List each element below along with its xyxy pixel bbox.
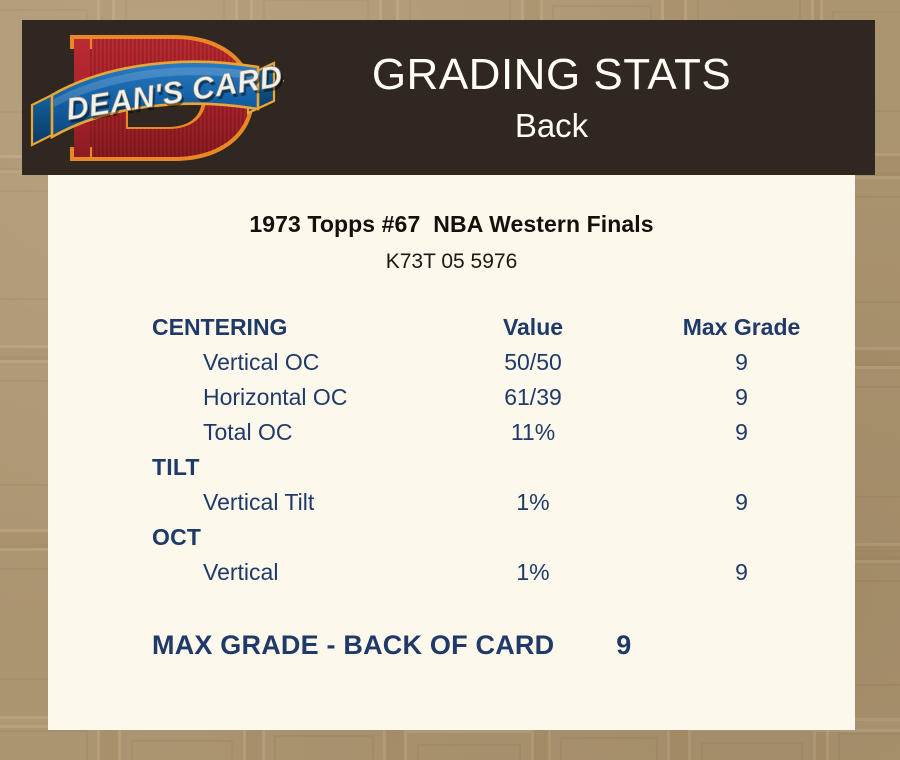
column-header-value: Value bbox=[438, 310, 628, 345]
row-label: Vertical Tilt bbox=[48, 485, 438, 520]
section-title: TILT bbox=[48, 450, 438, 485]
column-header-centering: CENTERING bbox=[48, 310, 438, 345]
row-label: Horizontal OC bbox=[48, 380, 438, 415]
grading-stats-panel: 1973 Topps #67 NBA Western Finals K73T 0… bbox=[48, 175, 855, 730]
row-value: 1% bbox=[438, 555, 628, 590]
row-label: Vertical bbox=[48, 555, 438, 590]
row-max-grade: 9 bbox=[628, 485, 855, 520]
row-value: 1% bbox=[438, 485, 628, 520]
deans-cards-logo[interactable]: DEAN'S CARDS DEAN'S CARDS bbox=[22, 23, 284, 173]
card-description: 1973 Topps #67 NBA Western Finals bbox=[48, 211, 855, 238]
table-header-row: CENTERING Value Max Grade bbox=[48, 310, 855, 345]
row-max-grade: 9 bbox=[628, 345, 855, 380]
row-value: 61/39 bbox=[438, 380, 628, 415]
row-max-grade: 9 bbox=[628, 380, 855, 415]
section-title: OCT bbox=[48, 520, 438, 555]
max-grade-value: 9 bbox=[554, 630, 631, 661]
max-grade-summary: MAX GRADE - BACK OF CARD 9 bbox=[48, 630, 855, 661]
grading-stats-table: CENTERING Value Max Grade Vertical OC 50… bbox=[48, 310, 855, 590]
max-grade-label: MAX GRADE - BACK OF CARD bbox=[48, 630, 554, 661]
section-header-tilt: TILT bbox=[48, 450, 855, 485]
row-label: Total OC bbox=[48, 415, 438, 450]
table-row: Vertical OC 50/50 9 bbox=[48, 345, 855, 380]
row-value: 11% bbox=[438, 415, 628, 450]
header-titles: GRADING STATS Back bbox=[284, 53, 875, 142]
row-label: Vertical OC bbox=[48, 345, 438, 380]
table-row: Total OC 11% 9 bbox=[48, 415, 855, 450]
section-header-oct: OCT bbox=[48, 520, 855, 555]
page-subtitle: Back bbox=[284, 109, 819, 142]
page-header: DEAN'S CARDS DEAN'S CARDS GRADING STATS … bbox=[22, 20, 875, 175]
table-row: Vertical 1% 9 bbox=[48, 555, 855, 590]
row-value: 50/50 bbox=[438, 345, 628, 380]
card-serial-number: K73T 05 5976 bbox=[48, 238, 855, 274]
table-row: Vertical Tilt 1% 9 bbox=[48, 485, 855, 520]
table-row: Horizontal OC 61/39 9 bbox=[48, 380, 855, 415]
row-max-grade: 9 bbox=[628, 555, 855, 590]
row-max-grade: 9 bbox=[628, 415, 855, 450]
column-header-max-grade: Max Grade bbox=[628, 310, 855, 345]
page-title: GRADING STATS bbox=[284, 53, 819, 109]
